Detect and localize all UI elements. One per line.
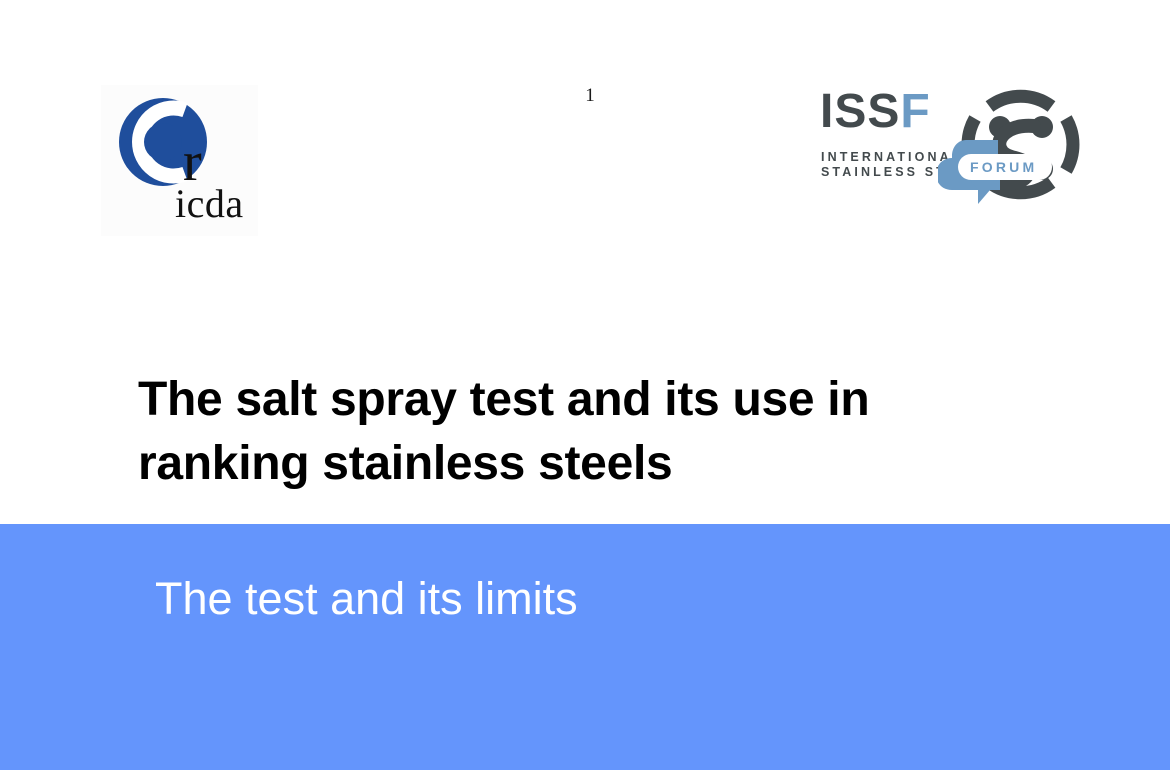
icda-logo-graphic: r icda xyxy=(101,85,258,236)
issf-acronym: ISSF xyxy=(820,88,931,136)
icda-logo: r icda xyxy=(101,85,258,236)
presentation-slide: r icda 1 ISSF INTERNATIONAL STAINLESS ST… xyxy=(0,0,1170,770)
section-banner xyxy=(0,524,1170,770)
issf-acronym-dark: ISS xyxy=(820,85,900,138)
issf-acronym-accent: F xyxy=(900,85,930,138)
svg-text:icda: icda xyxy=(175,181,244,226)
page-title-line-1: The salt spray test and its use in xyxy=(138,368,1018,432)
issf-forum-badge-text: FORUM xyxy=(970,159,1037,175)
page-number: 1 xyxy=(575,86,605,105)
page-title-line-2: ranking stainless steels xyxy=(138,432,1018,496)
page-title: The salt spray test and its use in ranki… xyxy=(138,368,1018,496)
section-banner-title: The test and its limits xyxy=(155,572,578,626)
issf-emblem-icon: FORUM xyxy=(938,82,1103,207)
issf-logo: ISSF INTERNATIONAL STAINLESS STEEL xyxy=(818,82,1103,207)
